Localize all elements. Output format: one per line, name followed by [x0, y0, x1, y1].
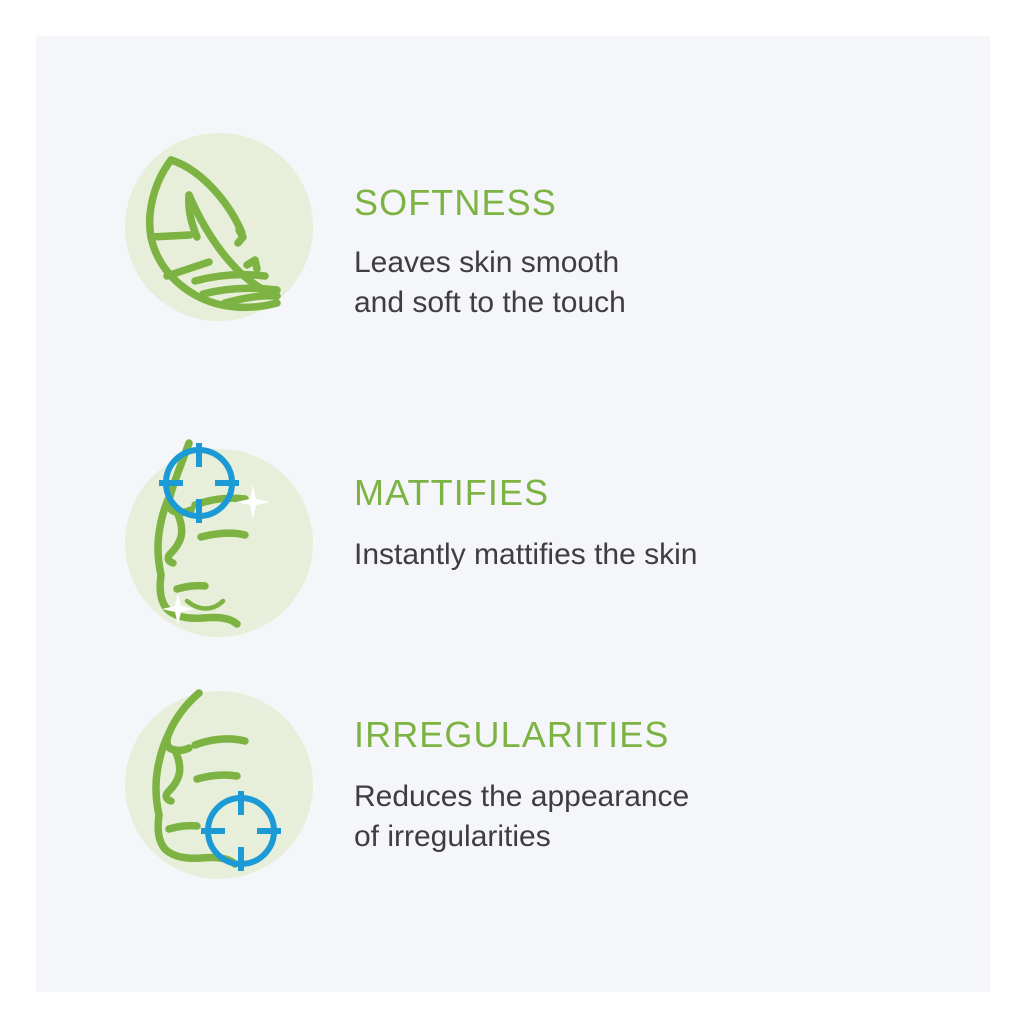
face-forehead-target-icon: [125, 449, 313, 637]
benefit-title: IRREGULARITIES: [354, 717, 990, 753]
benefit-title: MATTIFIES: [354, 475, 990, 511]
benefit-text-block: IRREGULARITIES Reduces the appearance of…: [354, 655, 990, 856]
benefit-description: Instantly mattifies the skin: [354, 535, 990, 575]
feather-icon: [125, 133, 313, 321]
infographic-panel: SOFTNESS Leaves skin smooth and soft to …: [36, 36, 990, 992]
benefit-row: IRREGULARITIES Reduces the appearance of…: [36, 655, 990, 879]
benefit-icon-badge: [125, 449, 313, 637]
benefit-description: Reduces the appearance of irregularities: [354, 777, 990, 856]
benefit-title: SOFTNESS: [354, 185, 990, 221]
face-cheek-target-icon: [125, 691, 313, 879]
benefit-text-block: MATTIFIES Instantly mattifies the skin: [354, 413, 990, 575]
benefit-icon-badge: [125, 133, 313, 321]
benefit-description: Leaves skin smooth and soft to the touch: [354, 243, 990, 322]
benefit-icon-badge: [125, 691, 313, 879]
benefit-row: MATTIFIES Instantly mattifies the skin: [36, 413, 990, 637]
benefit-text-block: SOFTNESS Leaves skin smooth and soft to …: [354, 133, 990, 322]
benefit-row: SOFTNESS Leaves skin smooth and soft to …: [36, 133, 990, 322]
